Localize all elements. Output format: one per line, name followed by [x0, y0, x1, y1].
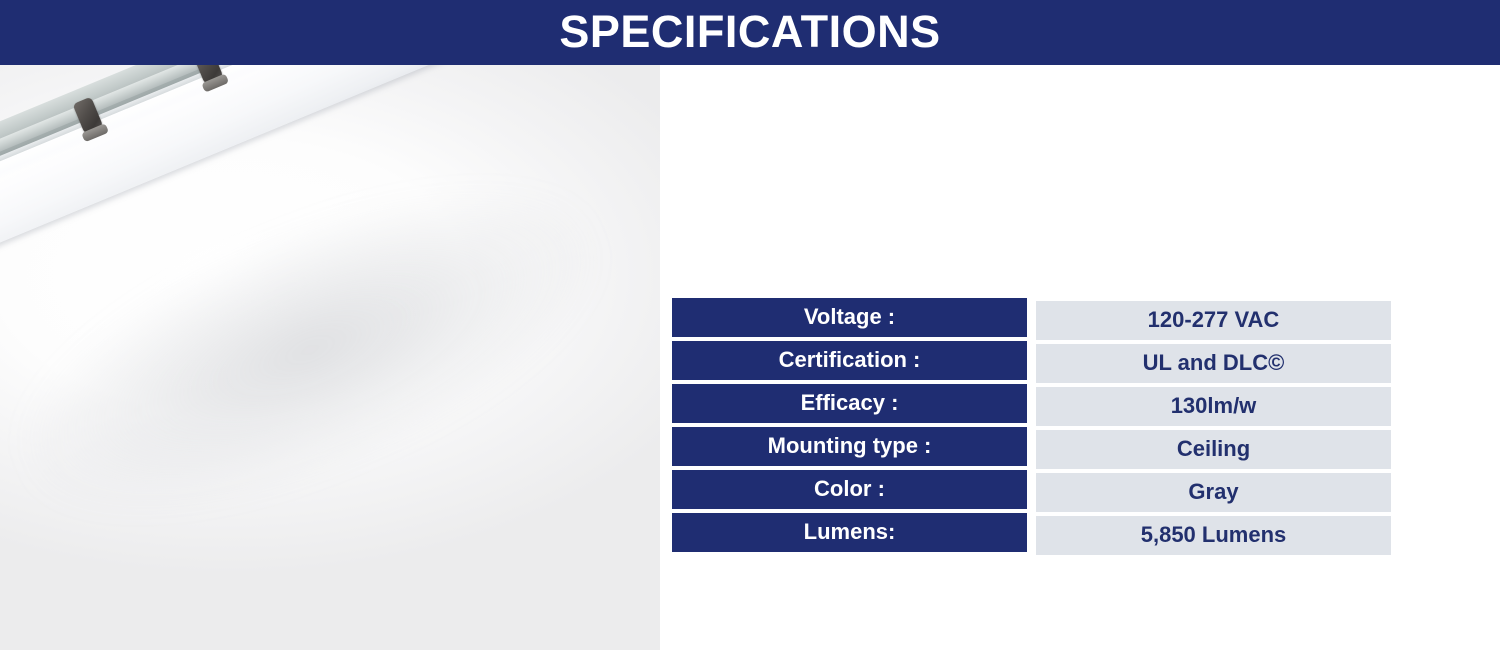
specifications-page: SPECIFICATIONS Voltage : 120-277 VAC: [0, 0, 1500, 650]
table-row: Mounting type : Ceiling: [672, 427, 1392, 469]
column-gap: [1027, 513, 1036, 555]
page-header: SPECIFICATIONS: [0, 0, 1500, 65]
column-gap: [1027, 298, 1036, 340]
product-image: [0, 65, 660, 650]
spec-value-efficacy: 130lm/w: [1036, 387, 1391, 426]
spec-label-lumens: Lumens:: [672, 513, 1027, 552]
spec-value-certification: UL and DLC©: [1036, 344, 1391, 383]
column-gap: [1027, 384, 1036, 426]
spec-label-efficacy: Efficacy :: [672, 384, 1027, 423]
table-row: Certification : UL and DLC©: [672, 341, 1392, 383]
spec-value-lumens: 5,850 Lumens: [1036, 516, 1391, 555]
column-gap: [1027, 427, 1036, 469]
page-title: SPECIFICATIONS: [559, 9, 940, 57]
spec-label-mounting-type: Mounting type :: [672, 427, 1027, 466]
spec-label-voltage: Voltage :: [672, 298, 1027, 337]
specifications-table: Voltage : 120-277 VAC Certification : UL…: [672, 298, 1392, 556]
column-gap: [1027, 470, 1036, 512]
spec-value-color: Gray: [1036, 473, 1391, 512]
spec-value-voltage: 120-277 VAC: [1036, 301, 1391, 340]
column-gap: [1027, 341, 1036, 383]
table-row: Efficacy : 130lm/w: [672, 384, 1392, 426]
spec-value-mounting-type: Ceiling: [1036, 430, 1391, 469]
spec-label-color: Color :: [672, 470, 1027, 509]
table-row: Color : Gray: [672, 470, 1392, 512]
spec-label-certification: Certification :: [672, 341, 1027, 380]
table-row: Voltage : 120-277 VAC: [672, 298, 1392, 340]
table-row: Lumens: 5,850 Lumens: [672, 513, 1392, 555]
